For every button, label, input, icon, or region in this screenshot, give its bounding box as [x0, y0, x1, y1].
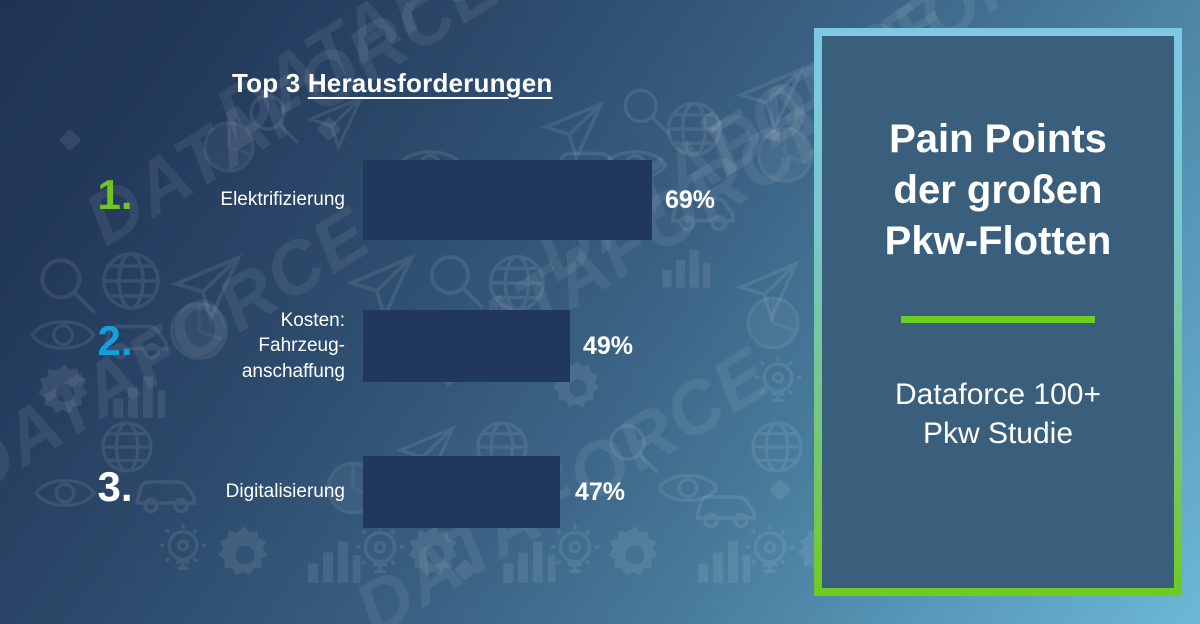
chart-title: Top 3 Herausforderungen	[232, 68, 553, 99]
bar	[363, 456, 560, 528]
table-row: 2. Kosten: Fahrzeug- anschaffung 49%	[0, 310, 800, 382]
category-label: Elektrifizierung	[160, 160, 345, 240]
bar-value-label: 47%	[575, 478, 625, 507]
category-label-line: Digitalisierung	[160, 479, 345, 504]
category-label: Digitalisierung	[160, 456, 345, 528]
panel-title-line: Pain Points	[885, 114, 1112, 165]
chart-title-emphasis: Herausforderungen	[308, 68, 553, 98]
chart-title-prefix: Top 3	[232, 68, 308, 98]
bar-value-label: 49%	[583, 332, 633, 361]
panel-divider	[901, 316, 1095, 323]
category-label-line: Fahrzeug-	[160, 333, 345, 358]
panel-subtitle-line: Dataforce 100+	[895, 375, 1101, 415]
table-row: 1. Elektrifizierung 69%	[0, 160, 800, 240]
chart-panel: Top 3 Herausforderungen 1. Elektrifizier…	[0, 0, 800, 624]
panel-subtitle: Dataforce 100+ Pkw Studie	[895, 375, 1101, 455]
bar	[363, 310, 570, 382]
rank-number: 1.	[60, 174, 170, 216]
pain-points-panel: Pain Points der großen Pkw-Flotten Dataf…	[814, 28, 1182, 596]
bar	[363, 160, 652, 240]
bar-value-label: 69%	[665, 186, 715, 215]
panel-title-line: Pkw-Flotten	[885, 216, 1112, 267]
panel-title-line: der großen	[885, 165, 1112, 216]
category-label-line: anschaffung	[160, 359, 345, 384]
panel-subtitle-line: Pkw Studie	[895, 414, 1101, 454]
pain-points-panel-inner: Pain Points der großen Pkw-Flotten Dataf…	[822, 36, 1174, 588]
category-label-line: Kosten:	[160, 308, 345, 333]
panel-title: Pain Points der großen Pkw-Flotten	[873, 114, 1124, 268]
table-row: 3. Digitalisierung 47%	[0, 456, 800, 528]
infographic-root: DATAFORCE DATAFORCE DATAFORCE DATAFORCE …	[0, 0, 1200, 624]
rank-number: 2.	[60, 320, 170, 362]
rank-number: 3.	[60, 466, 170, 508]
category-label: Kosten: Fahrzeug- anschaffung	[160, 310, 345, 382]
category-label-line: Elektrifizierung	[160, 187, 345, 212]
